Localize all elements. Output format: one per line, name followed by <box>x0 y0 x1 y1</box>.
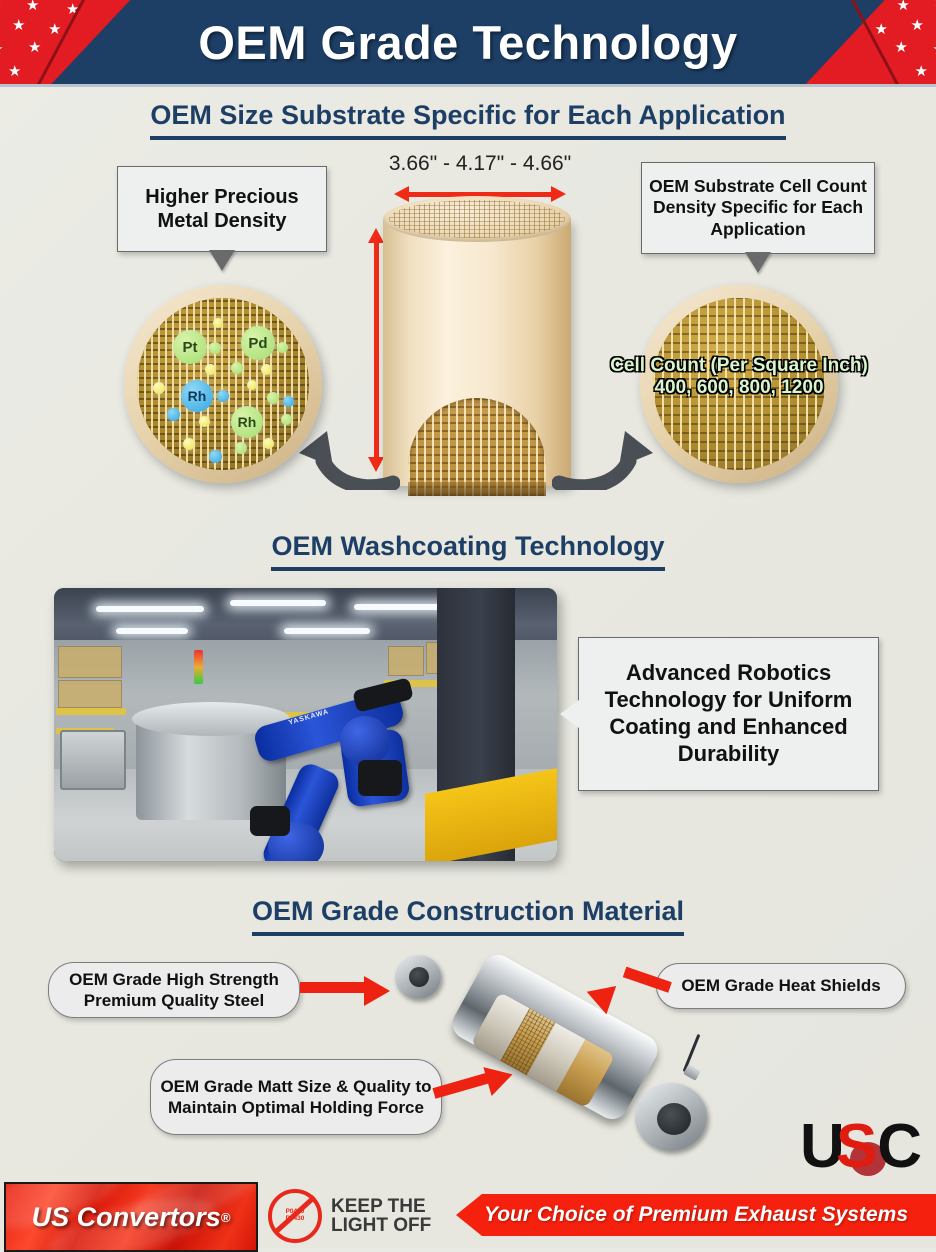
substrate-cutaway <box>408 398 546 496</box>
usc-logo-s: S <box>836 1118 877 1176</box>
particle-rh-blue: Rh <box>181 380 213 412</box>
callout-premium-steel: OEM Grade High Strength Premium Quality … <box>48 962 300 1018</box>
particle-pt: Pt <box>173 330 207 364</box>
substrate-diameter-label: 3.66" - 4.17" - 4.66" <box>330 152 630 176</box>
us-convertors-brand-text: US Convertors <box>32 1202 221 1233</box>
tagline-banner: Your Choice of Premium Exhaust Systems <box>456 1194 936 1236</box>
callout-advanced-robotics: Advanced Robotics Technology for Uniform… <box>578 637 879 791</box>
callout-cell-count-density-text: OEM Substrate Cell Count Density Specifi… <box>642 176 874 240</box>
section-title-substrate: OEM Size Substrate Specific for Each App… <box>0 100 936 140</box>
cell-count-title: Cell Count (Per Square Inch) <box>584 355 894 377</box>
infographic-page: ★ ★ ★ ★ ★ ★ ★ ★ ★ ★ ★ ★ ★ ★ ★ ★ ★ <box>0 0 936 1248</box>
substrate-cylinder <box>383 196 571 496</box>
header-divider <box>0 84 936 87</box>
usc-logo-c: C <box>877 1118 922 1176</box>
page-header: ★ ★ ★ ★ ★ ★ ★ ★ ★ ★ ★ ★ ★ ★ ★ ★ ★ <box>0 0 936 84</box>
keep-line-1: KEEP THE <box>331 1197 431 1216</box>
particle-pd: Pd <box>241 326 275 360</box>
callout-matt-size-text: OEM Grade Matt Size & Quality to Maintai… <box>151 1076 441 1119</box>
page-footer: US Convertors® P0420 P0430 KEEP THE LIGH… <box>0 1182 936 1248</box>
arrow-steel <box>300 982 366 993</box>
us-convertors-brand: US Convertors® <box>6 1184 256 1250</box>
arrow-steel-head <box>364 976 390 1006</box>
page-title: OEM Grade Technology <box>0 0 936 84</box>
section-title-substrate-text: OEM Size Substrate Specific for Each App… <box>150 100 785 140</box>
section-title-construction: OEM Grade Construction Material <box>0 896 936 936</box>
particle-rh-green: Rh <box>231 406 263 438</box>
callout-precious-metal-density-text: Higher Precious Metal Density <box>118 185 326 234</box>
us-convertors-badge: US Convertors® <box>4 1182 258 1252</box>
cell-count-values: 400, 600, 800, 1200 <box>584 377 894 399</box>
usc-logo: U S C <box>800 1124 922 1182</box>
section-title-washcoating-text: OEM Washcoating Technology <box>271 531 664 571</box>
cell-count-overlay: Cell Count (Per Square Inch) 400, 600, 8… <box>584 355 894 400</box>
callout-heat-shields: OEM Grade Heat Shields <box>656 963 906 1009</box>
callout-cell-count-density: OEM Substrate Cell Count Density Specifi… <box>641 162 875 254</box>
keep-the-light-off: P0420 P0430 KEEP THE LIGHT OFF <box>268 1192 448 1240</box>
callout-advanced-robotics-text: Advanced Robotics Technology for Uniform… <box>579 660 878 767</box>
robotics-photo: YASKAWA <box>54 588 557 861</box>
callout-premium-steel-text: OEM Grade High Strength Premium Quality … <box>49 969 299 1012</box>
keep-line-2: LIGHT OFF <box>331 1216 431 1235</box>
tagline-text: Your Choice of Premium Exhaust Systems <box>484 1203 908 1227</box>
precious-metal-circle: Pt Pd Rh Rh <box>124 285 322 483</box>
substrate-top-face <box>383 196 571 242</box>
section-title-washcoating: OEM Washcoating Technology <box>0 531 936 571</box>
callout-precious-metal-density: Higher Precious Metal Density <box>117 166 327 252</box>
callout-heat-shields-text: OEM Grade Heat Shields <box>681 975 880 996</box>
no-dtc-icon: P0420 P0430 <box>268 1189 322 1243</box>
section-title-construction-text: OEM Grade Construction Material <box>252 896 684 936</box>
callout-matt-size: OEM Grade Matt Size & Quality to Maintai… <box>150 1059 442 1135</box>
registered-mark: ® <box>221 1210 231 1225</box>
